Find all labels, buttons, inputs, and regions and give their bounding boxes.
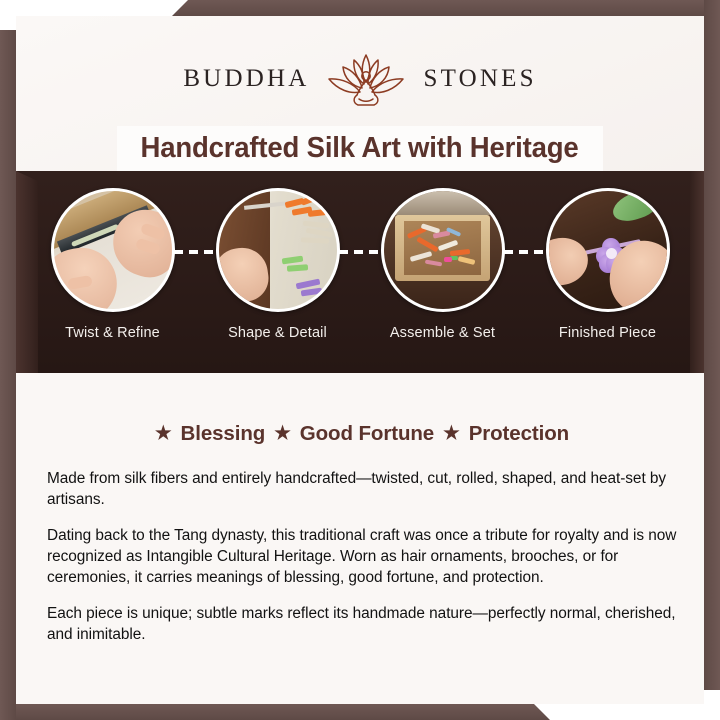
- benefits-row: ★ Blessing ★ Good Fortune ★ Protection: [34, 373, 690, 446]
- star-icon: ★: [443, 424, 460, 443]
- process-step: Assemble & Set: [360, 171, 525, 373]
- benefit-label-protection: Protection: [469, 422, 569, 446]
- brand-word-left: BUDDHA: [183, 65, 309, 93]
- frame-band-left: [0, 30, 16, 720]
- content-canvas: BUDDHA: [16, 16, 704, 704]
- wooden-tray-silk-pieces-photo: [384, 191, 502, 309]
- step-connector-dashes: [174, 250, 216, 254]
- workbench-silk-tufts-photo: [219, 191, 337, 309]
- star-icon: ★: [155, 424, 172, 443]
- corner-notch-bottom-right: [530, 702, 720, 720]
- hands-twisting-silk-photo: [54, 191, 172, 309]
- process-step: Twist & Refine: [30, 171, 195, 373]
- step-image-ring: [546, 188, 670, 312]
- brand-logo: BUDDHA: [16, 16, 704, 109]
- step-label: Finished Piece: [559, 325, 656, 341]
- benefit-label-blessing: Blessing: [181, 422, 266, 446]
- process-step: Finished Piece: [525, 171, 690, 373]
- step-connector-dashes: [339, 250, 381, 254]
- step-connector-dashes: [504, 250, 546, 254]
- benefit-label-good-fortune: Good Fortune: [300, 422, 434, 446]
- frame-band-right: [704, 0, 720, 690]
- description-block: Made from silk fibers and entirely handc…: [34, 446, 690, 646]
- step-label: Shape & Detail: [228, 325, 327, 341]
- page-title-band: Handcrafted Silk Art with Heritage: [117, 126, 603, 171]
- description-paragraph: Each piece is unique; subtle marks refle…: [47, 604, 680, 646]
- infographic-page: BUDDHA: [0, 0, 720, 720]
- hands-holding-silk-flower-photo: [549, 191, 667, 309]
- body-section: ★ Blessing ★ Good Fortune ★ Protection M…: [16, 373, 704, 704]
- step-label: Twist & Refine: [65, 325, 160, 341]
- process-steps-strip: Twist & Refine: [16, 171, 704, 373]
- brand-word-right: STONES: [423, 65, 536, 93]
- process-step: Shape & Detail: [195, 171, 360, 373]
- step-image-ring: [51, 188, 175, 312]
- page-title: Handcrafted Silk Art with Heritage: [141, 132, 579, 165]
- step-image-ring: [216, 188, 340, 312]
- header: BUDDHA: [16, 16, 704, 171]
- description-paragraph: Dating back to the Tang dynasty, this tr…: [47, 526, 680, 589]
- description-paragraph: Made from silk fibers and entirely handc…: [47, 469, 680, 511]
- lotus-meditation-icon: [323, 49, 409, 109]
- step-image-ring: [381, 188, 505, 312]
- star-icon: ★: [274, 424, 291, 443]
- step-label: Assemble & Set: [390, 325, 495, 341]
